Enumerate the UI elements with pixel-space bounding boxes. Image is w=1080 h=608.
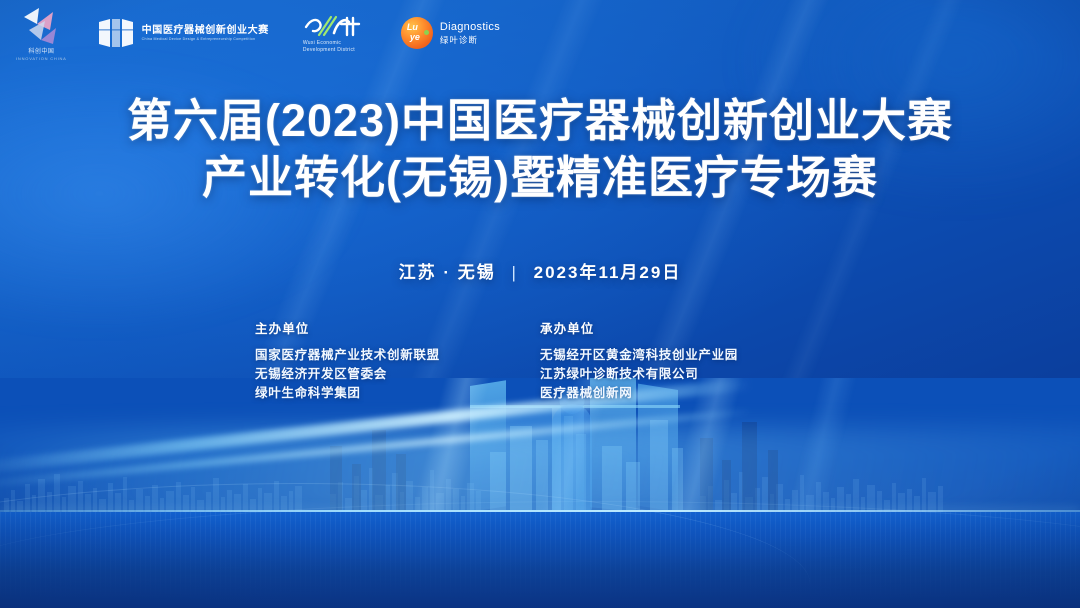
host-organizer-column: 主办单位 国家医疗器械产业技术创新联盟 无锡经济开发区管委会 绿叶生命科学集团 [255, 318, 540, 403]
competition-name-en: China Medical Device Design & Entreprene… [142, 37, 269, 41]
coorganizer-column: 承办单位 无锡经开区黄金湾科技创业产业园 江苏绿叶诊断技术有限公司 医疗器械创新… [540, 318, 825, 403]
title-line-1: 第六届(2023)中国医疗器械创新创业大赛 [0, 92, 1080, 149]
wuxi-calligraphy-mark-icon [303, 13, 365, 39]
luye-mark-bottom: ye [410, 33, 420, 42]
luye-mark-top: Lu [407, 23, 418, 32]
innovation-china-caption: 科创中国 INNOVATION CHINA [16, 48, 67, 61]
sponsor-logo-bar: 科创中国 INNOVATION CHINA 中国医疗器械创新创业大赛 China… [0, 0, 1080, 66]
subline-separator: | [511, 263, 517, 283]
host-organizer-title: 主办单位 [255, 318, 540, 337]
logo-china-medical-device-competition: 中国医疗器械创新创业大赛 China Medical Device Design… [97, 16, 269, 50]
logo-innovation-china: 科创中国 INNOVATION CHINA [16, 4, 67, 61]
competition-name-cn: 中国医疗器械创新创业大赛 [142, 25, 269, 38]
logo-wuxi-economic-development-district: Wuxi Economic Development District [303, 13, 365, 54]
luye-diagnostics-en: Diagnostics [440, 21, 500, 35]
event-location-date: 江苏 · 无锡 | 2023年11月29日 [0, 258, 1080, 283]
wuxi-en-line1: Wuxi Economic [303, 40, 365, 47]
wuxi-caption: Wuxi Economic Development District [303, 40, 365, 54]
event-location: 江苏 · 无锡 [399, 263, 496, 282]
title-line-2: 产业转化(无锡)暨精准医疗专场赛 [0, 149, 1080, 206]
luye-mark-icon: Lu ye [401, 17, 433, 49]
innovation-china-en: INNOVATION CHINA [16, 56, 67, 61]
logo-luye-diagnostics: Lu ye Diagnostics 绿叶诊断 [401, 17, 500, 49]
host-organizer-item: 无锡经济开发区管委会 [255, 365, 540, 384]
host-organizer-item: 国家医疗器械产业技术创新联盟 [255, 346, 540, 365]
coorganizer-item: 无锡经开区黄金湾科技创业产业园 [540, 346, 825, 365]
coorganizer-title: 承办单位 [540, 318, 825, 337]
wuxi-en-line2: Development District [303, 47, 365, 54]
innovation-china-mark-icon [17, 4, 63, 48]
innovation-china-cn: 科创中国 [28, 49, 54, 55]
coorganizer-item: 医疗器械创新网 [540, 384, 825, 403]
luye-diagnostics-cn: 绿叶诊断 [440, 35, 500, 46]
organizers-section: 主办单位 国家医疗器械产业技术创新联盟 无锡经济开发区管委会 绿叶生命科学集团 … [0, 318, 1080, 403]
host-organizer-item: 绿叶生命科学集团 [255, 384, 540, 403]
coorganizer-item: 江苏绿叶诊断技术有限公司 [540, 365, 825, 384]
event-date: 2023年11月29日 [534, 263, 682, 282]
competition-door-mark-icon [97, 16, 135, 50]
luye-text-block: Diagnostics 绿叶诊断 [440, 21, 500, 45]
event-poster: 科创中国 INNOVATION CHINA 中国医疗器械创新创业大赛 China… [0, 0, 1080, 608]
luye-leaf-dot-icon [424, 30, 429, 35]
competition-text-block: 中国医疗器械创新创业大赛 China Medical Device Design… [142, 25, 269, 42]
page-title: 第六届(2023)中国医疗器械创新创业大赛 产业转化(无锡)暨精准医疗专场赛 [0, 92, 1080, 206]
